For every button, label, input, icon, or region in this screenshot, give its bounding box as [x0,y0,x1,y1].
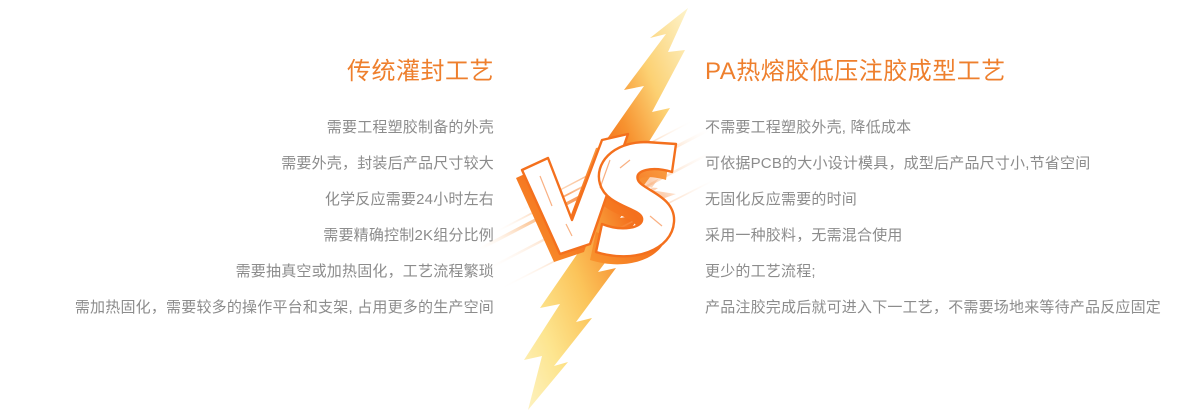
list-item: 产品注胶完成后就可进入下一工艺，不需要场地来等待产品反应固定 [705,290,1200,326]
list-item: 需要精确控制2K组分比例 [0,218,494,254]
lightning-bolt-icon [480,0,720,413]
list-item: 采用一种胶料，无需混合使用 [705,218,1200,254]
list-item: 需加热固化，需要较多的操作平台和支架, 占用更多的生产空间 [0,290,494,326]
right-column-title: PA热熔胶低压注胶成型工艺 [705,58,1200,86]
right-column-item-list: 不需要工程塑胶外壳, 降低成本 可依据PCB的大小设计模具，成型后产品尺寸小,节… [705,110,1200,326]
left-column-item-list: 需要工程塑胶制备的外壳 需要外壳，封装后产品尺寸较大 化学反应需要24小时左右 … [0,110,494,326]
list-item: 需要外壳，封装后产品尺寸较大 [0,146,494,182]
list-item: 化学反应需要24小时左右 [0,182,494,218]
traditional-process-column: 传统灌封工艺 需要工程塑胶制备的外壳 需要外壳，封装后产品尺寸较大 化学反应需要… [0,0,494,413]
list-item: 需要工程塑胶制备的外壳 [0,110,494,146]
vs-label-shadow [516,142,670,264]
speed-streaks [480,120,718,290]
vs-label [516,134,676,264]
vs-label-fill [522,134,676,256]
list-item: 无固化反应需要的时间 [705,182,1200,218]
comparison-infographic: 传统灌封工艺 需要工程塑胶制备的外壳 需要外壳，封装后产品尺寸较大 化学反应需要… [0,0,1200,413]
list-item: 可依据PCB的大小设计模具，成型后产品尺寸小,节省空间 [705,146,1200,182]
vs-texture-marks [540,160,662,236]
vs-lightning-divider-graphic [480,0,720,413]
pa-hotmelt-process-column: PA热熔胶低压注胶成型工艺 不需要工程塑胶外壳, 降低成本 可依据PCB的大小设… [705,0,1200,413]
list-item: 需要抽真空或加热固化，工艺流程繁琐 [0,254,494,290]
left-column-title: 传统灌封工艺 [0,58,494,86]
bolt-body [524,8,688,410]
bolt-secondary-flash [620,156,676,214]
list-item: 更少的工艺流程; [705,254,1200,290]
list-item: 不需要工程塑胶外壳, 降低成本 [705,110,1200,146]
